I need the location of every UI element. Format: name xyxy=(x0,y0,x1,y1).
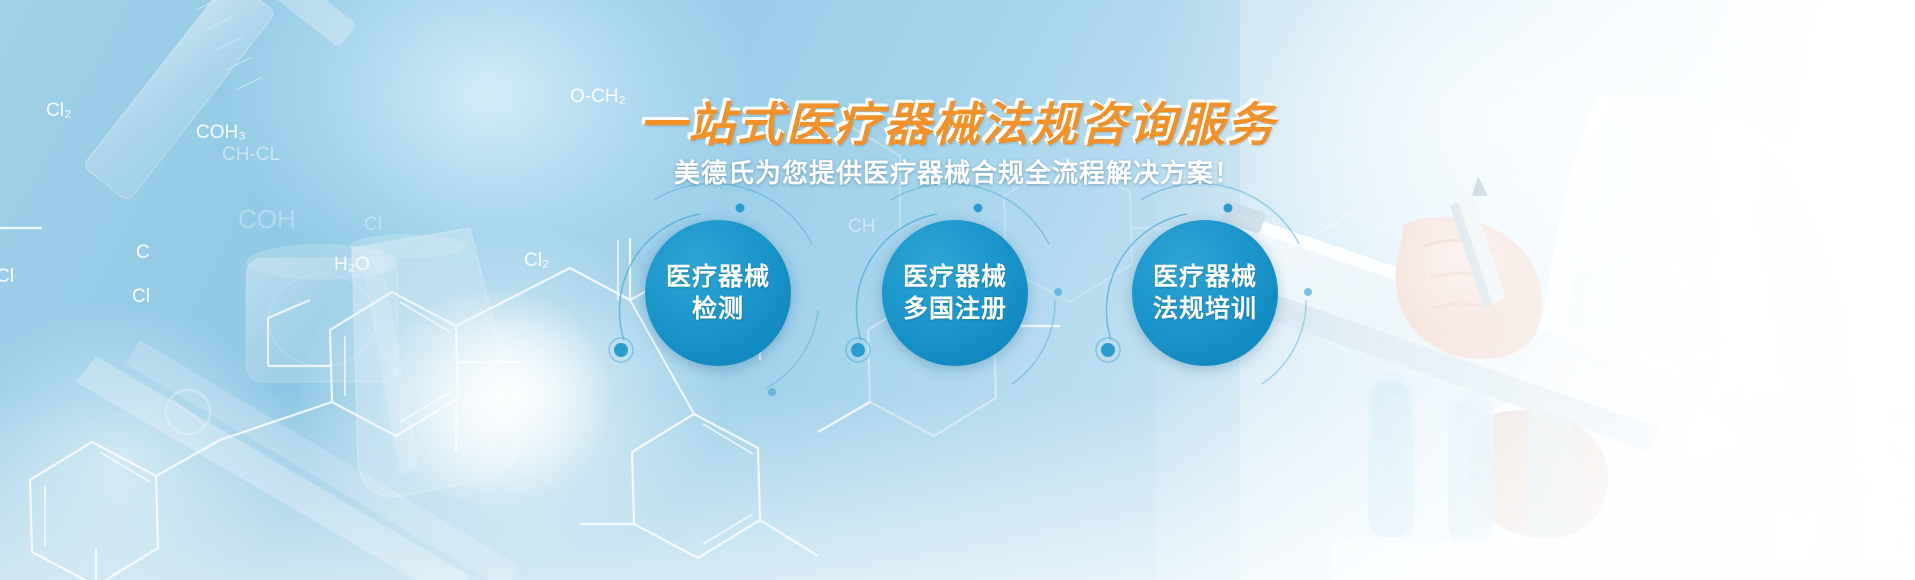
badge-label-line2: 法规培训 xyxy=(1153,293,1257,326)
banner-subline: 美德氏为您提供医疗器械合规全流程解决方案！ xyxy=(674,153,1241,190)
badge-label-line1: 医疗器械 xyxy=(903,261,1007,294)
banner-headline: 一站式医疗器械法规咨询服务 xyxy=(639,86,1276,155)
hero-banner: Cl₂ COH₃ O-CH₂ CH-CL H₂O Cl C Cl Cl₂ CH₂… xyxy=(0,0,1915,580)
headline-container: 一站式医疗器械法规咨询服务 xyxy=(0,86,1915,155)
service-badge-multi-country-registration[interactable]: 医疗器械 多国注册 xyxy=(882,220,1028,366)
service-badge-regulatory-training[interactable]: 医疗器械 法规培训 xyxy=(1132,220,1278,366)
subline-container: 美德氏为您提供医疗器械合规全流程解决方案！ xyxy=(0,153,1915,190)
service-badge-inspection[interactable]: 医疗器械 检测 xyxy=(645,220,791,366)
badge-label-line2: 多国注册 xyxy=(903,293,1007,326)
badge-label-line2: 检测 xyxy=(692,293,744,326)
badge-label-line1: 医疗器械 xyxy=(1153,261,1257,294)
badge-label-line1: 医疗器械 xyxy=(666,261,770,294)
